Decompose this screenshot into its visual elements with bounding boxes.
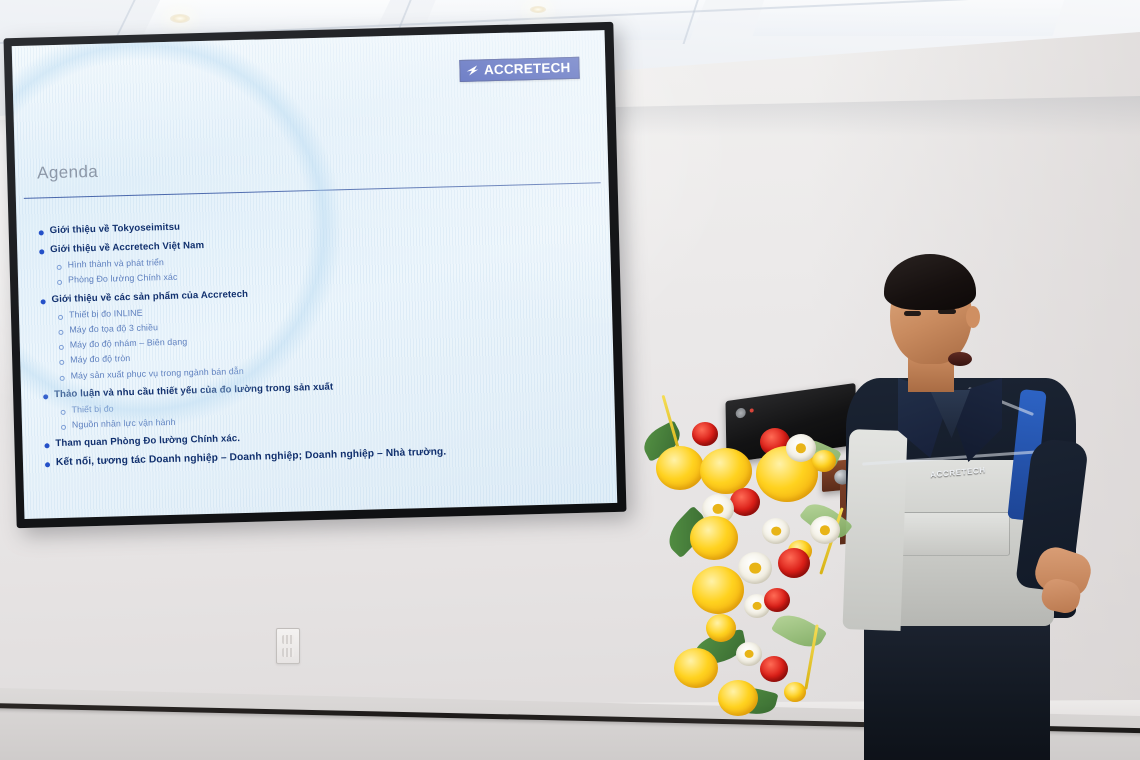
presenter-ear: [966, 306, 980, 328]
slide-title: Agenda: [37, 162, 99, 184]
bullet-hollow-icon: [59, 360, 64, 365]
agenda-item-label: Phòng Đo lường Chính xác: [68, 273, 178, 285]
jacket-pocket: [888, 512, 1010, 556]
flower-red: [730, 488, 760, 516]
agenda-item-label: Kết nối, tương tác Doanh nghiệp – Doanh …: [56, 448, 447, 469]
eye: [904, 311, 921, 316]
mouth: [948, 352, 972, 366]
bullet-hollow-icon: [57, 265, 62, 270]
wall-outlet-icon: [276, 628, 300, 664]
flower-red: [778, 548, 810, 578]
flower-white: [810, 516, 840, 544]
flower-yellow: [690, 516, 738, 560]
downlight-icon: [530, 6, 546, 13]
slide-agenda: ACCRETECH Agenda Giới thiệu về Tokyoseim…: [12, 30, 618, 519]
agenda-item: Kết nối, tương tác Doanh nghiệp – Doanh …: [45, 444, 602, 470]
presenter-trousers: [864, 616, 1050, 760]
screen-panel: ACCRETECH Agenda Giới thiệu về Tokyoseim…: [12, 30, 618, 519]
accretech-swoosh-icon: [466, 64, 480, 77]
agenda-item-label: Giới thiệu về Tokyoseimitsu: [50, 223, 181, 237]
flower-yellow: [784, 682, 806, 702]
bullet-filled-icon: [44, 444, 49, 449]
bullet-hollow-icon: [60, 375, 65, 380]
accretech-logo-text: ACCRETECH: [484, 61, 571, 77]
agenda-item-label: Máy sản xuất phục vụ trong ngành bán dẫn: [71, 367, 244, 381]
downlight-icon: [170, 14, 190, 23]
flower-yellow: [656, 446, 704, 490]
agenda-item-label: Tham quan Phòng Đo lường Chính xác.: [55, 434, 240, 449]
agenda-item-label: Hình thành và phát triển: [68, 258, 165, 270]
agenda-item-label: Giới thiệu về các sản phẩm của Accretech: [51, 289, 248, 304]
slide-title-divider: [24, 182, 601, 199]
flower-red: [692, 422, 718, 446]
agenda-item-label: Máy đo độ tròn: [70, 354, 130, 365]
bullet-hollow-icon: [57, 280, 62, 285]
flower-yellow: [718, 680, 758, 716]
flower-yellow: [692, 566, 744, 614]
presenter-hair: [884, 254, 976, 310]
agenda-bullet-list: Giới thiệu về TokyoseimitsuGiới thiệu về…: [38, 202, 602, 469]
flower-yellow: [706, 614, 736, 642]
agenda-item-label: Thiết bị đo INLINE: [69, 308, 143, 319]
flower-white: [762, 518, 790, 544]
presentation-screen[interactable]: ACCRETECH Agenda Giới thiệu về Tokyoseim…: [3, 22, 626, 528]
bullet-filled-icon: [43, 394, 48, 399]
accretech-logo: ACCRETECH: [460, 57, 580, 82]
flower-white: [738, 552, 772, 584]
flower-yellow: [812, 450, 836, 472]
agenda-item-label: Giới thiệu về Accretech Việt Nam: [50, 241, 204, 255]
bullet-filled-icon: [39, 230, 44, 235]
agenda-item-label: Thiết bị đo: [71, 404, 113, 414]
agenda-item-label: Thảo luận và nhu cầu thiết yếu của đo lư…: [54, 382, 333, 400]
bullet-hollow-icon: [58, 314, 63, 319]
agenda-item-label: Máy đo tọa độ 3 chiều: [69, 323, 158, 335]
flower-white: [736, 642, 762, 666]
bullet-hollow-icon: [59, 345, 64, 350]
leaf: [771, 607, 827, 655]
flower-red: [764, 588, 790, 612]
bullet-hollow-icon: [61, 425, 66, 430]
agenda-item-label: Nguồn nhân lực vận hành: [72, 418, 176, 430]
flower-arrangement: [634, 388, 884, 718]
bullet-filled-icon: [39, 249, 44, 254]
bullet-filled-icon: [45, 463, 50, 468]
presentation-photo-scene: ACCRETECH Agenda Giới thiệu về Tokyoseim…: [0, 0, 1140, 760]
bullet-hollow-icon: [61, 410, 66, 415]
bullet-hollow-icon: [58, 330, 63, 335]
flower-yellow: [674, 648, 718, 688]
bullet-filled-icon: [41, 299, 46, 304]
agenda-item-label: Máy đo độ nhám – Biên dạng: [70, 338, 188, 350]
flower-red: [760, 656, 788, 682]
